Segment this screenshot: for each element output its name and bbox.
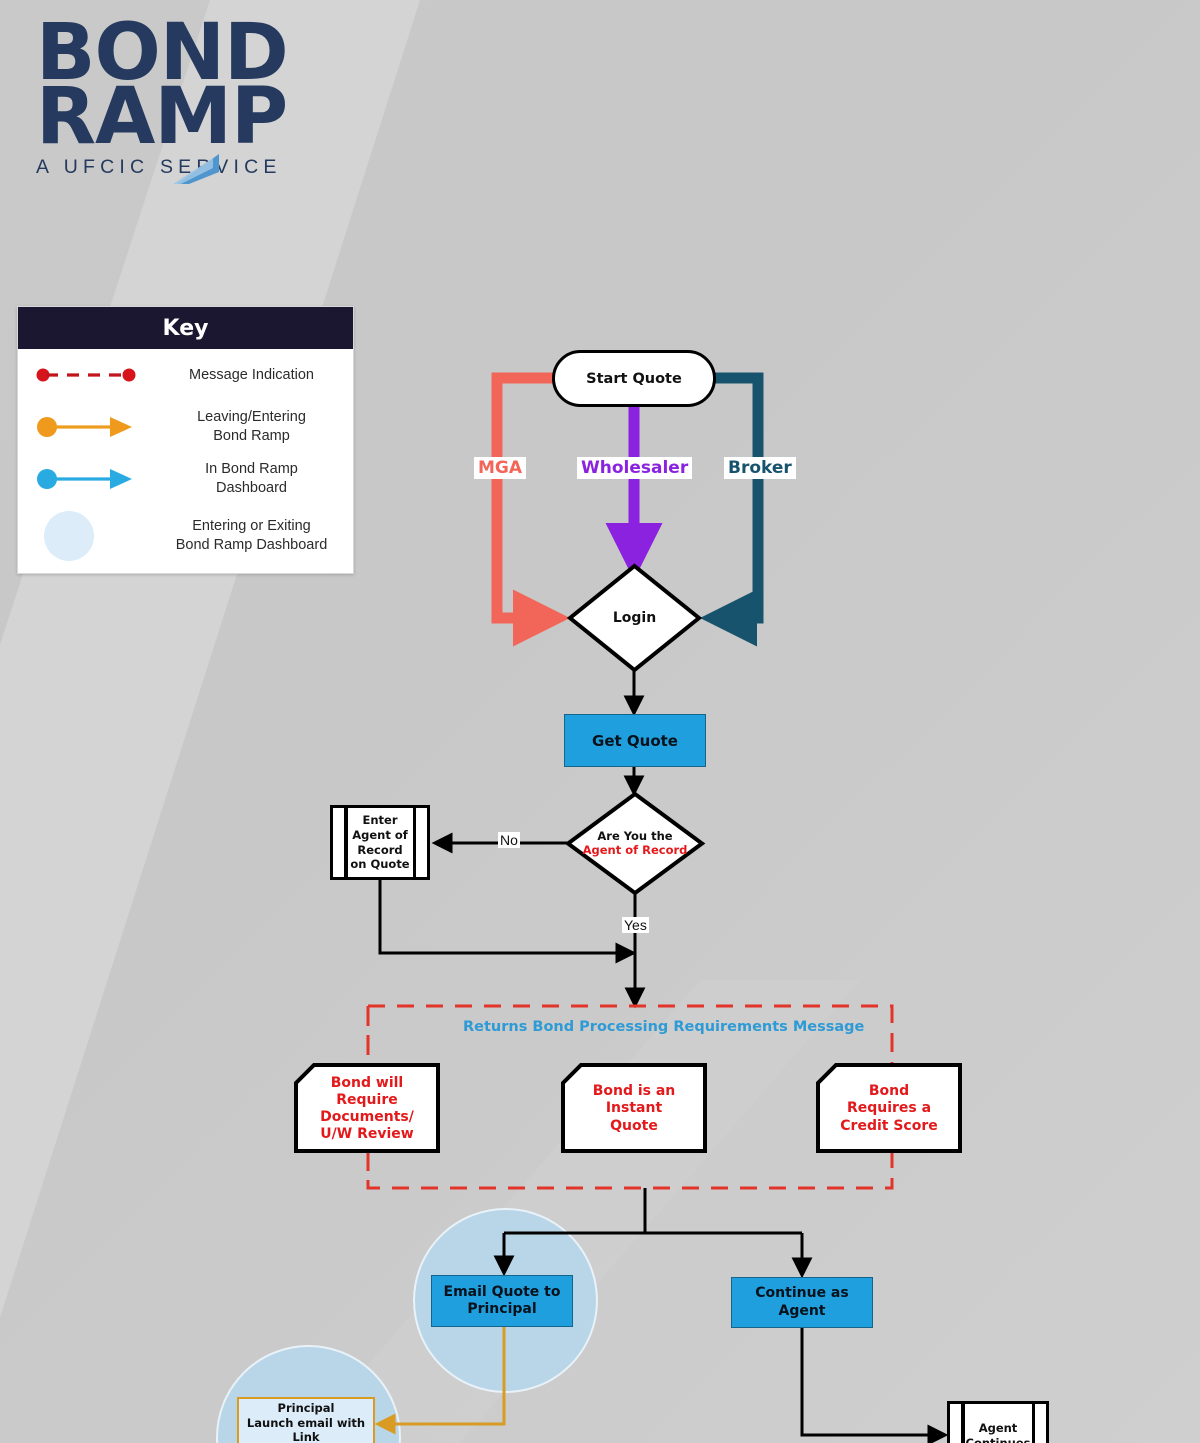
node-agent-continues-label: Agent Continues — [950, 1404, 1046, 1443]
legend-label-leaving-entering-line2: Bond Ramp — [213, 428, 290, 444]
email-principal-line2: Principal — [467, 1301, 536, 1317]
dashed-line-icon — [18, 367, 160, 383]
edge-label-yes: Yes — [622, 917, 649, 933]
principal-box-line1: Principal — [278, 1401, 335, 1415]
msg-credit-line3: Credit Score — [840, 1118, 937, 1134]
node-bond-requires-documents-label: Bond will Require Documents/ U/W Review — [296, 1065, 438, 1151]
edge-label-wholesaler: Wholesaler — [577, 457, 692, 479]
light-blue-circle-icon — [18, 509, 160, 563]
bond-ramp-logo: BOND RAMP A UFCIC SERVICE — [36, 22, 326, 217]
node-aor-label: Are You the Agent of Record — [567, 793, 703, 894]
legend-label-entering-exiting: Entering or Exiting Bond Ramp Dashboard — [160, 517, 353, 554]
flowchart-page: BOND RAMP A UFCIC SERVICE Key Message In… — [0, 0, 1200, 1443]
legend-key-box: Key Message Indication Leaving/E — [17, 306, 354, 574]
msg-docs-line4: U/W Review — [320, 1126, 413, 1142]
msg-docs-line1: Bond will — [331, 1075, 403, 1091]
legend-label-leaving-entering-line1: Leaving/Entering — [197, 409, 306, 425]
node-are-you-agent-of-record[interactable]: Are You the Agent of Record — [567, 793, 703, 894]
legend-label-in-dashboard: In Bond Ramp Dashboard — [160, 460, 353, 497]
annotation-returns-bond-processing-message: Returns Bond Processing Requirements Mes… — [463, 1019, 864, 1035]
agent-continues-line2: Continues — [966, 1436, 1031, 1443]
node-start-quote[interactable]: Start Quote — [552, 350, 716, 407]
continue-agent-line2: Agent — [778, 1303, 825, 1319]
node-bond-requires-documents[interactable]: Bond will Require Documents/ U/W Review — [296, 1065, 438, 1151]
node-enter-aor-label: Enter Agent of Record on Quote — [333, 808, 427, 877]
node-agent-continues[interactable]: Agent Continues — [947, 1401, 1049, 1443]
node-login[interactable]: Login — [569, 565, 700, 671]
legend-label-in-dashboard-line1: In Bond Ramp — [205, 461, 298, 477]
legend-row-leaving-entering: Leaving/Entering Bond Ramp — [18, 401, 353, 453]
legend-label-leaving-entering: Leaving/Entering Bond Ramp — [160, 408, 353, 445]
msg-docs-line3: Documents/ — [320, 1109, 414, 1125]
node-aor-line1: Are You the — [597, 830, 672, 844]
legend-title: Key — [18, 307, 353, 349]
node-bond-requires-credit-score-label: Bond Requires a Credit Score — [818, 1065, 960, 1151]
legend-label-in-dashboard-line2: Dashboard — [216, 480, 287, 496]
node-enter-agent-of-record[interactable]: Enter Agent of Record on Quote — [330, 805, 430, 880]
msg-credit-line2: Requires a — [847, 1100, 931, 1116]
node-continue-as-agent[interactable]: Continue as Agent — [731, 1277, 873, 1328]
msg-instant-line2: Instant — [606, 1100, 662, 1116]
node-email-quote-to-principal[interactable]: Email Quote to Principal — [431, 1275, 573, 1327]
node-login-label: Login — [569, 565, 700, 671]
email-principal-line1: Email Quote to — [444, 1284, 561, 1300]
msg-docs-line2: Require — [336, 1092, 397, 1108]
legend-label-entering-exiting-line2: Bond Ramp Dashboard — [176, 537, 328, 553]
legend-row-in-dashboard: In Bond Ramp Dashboard — [18, 453, 353, 505]
agent-continues-line1: Agent — [979, 1421, 1018, 1435]
logo-text-ramp: RAMP — [36, 86, 326, 150]
node-principal-launch-email[interactable]: Principal Launch email with Link — [237, 1397, 375, 1443]
legend-label-message-indication: Message Indication — [160, 366, 353, 385]
node-bond-is-instant-quote-label: Bond is an Instant Quote — [563, 1065, 705, 1151]
legend-row-message-indication: Message Indication — [18, 349, 353, 401]
node-bond-requires-credit-score[interactable]: Bond Requires a Credit Score — [818, 1065, 960, 1151]
legend-label-entering-exiting-line1: Entering or Exiting — [192, 518, 310, 534]
blue-arrow-icon — [18, 466, 160, 492]
node-bond-is-instant-quote[interactable]: Bond is an Instant Quote — [563, 1065, 705, 1151]
msg-instant-line1: Bond is an — [593, 1083, 676, 1099]
continue-agent-line1: Continue as — [755, 1285, 848, 1301]
edge-label-no: No — [498, 832, 520, 848]
legend-row-entering-exiting: Entering or Exiting Bond Ramp Dashboard — [18, 505, 353, 567]
orange-arrow-icon — [18, 414, 160, 440]
msg-credit-line1: Bond — [869, 1083, 909, 1099]
node-get-quote[interactable]: Get Quote — [564, 714, 706, 767]
msg-instant-line3: Quote — [610, 1118, 658, 1134]
node-aor-line2: Agent of Record — [583, 844, 688, 858]
edge-label-mga: MGA — [474, 457, 526, 479]
edge-label-broker: Broker — [724, 457, 796, 479]
principal-box-line2: Launch email with Link — [247, 1416, 365, 1443]
